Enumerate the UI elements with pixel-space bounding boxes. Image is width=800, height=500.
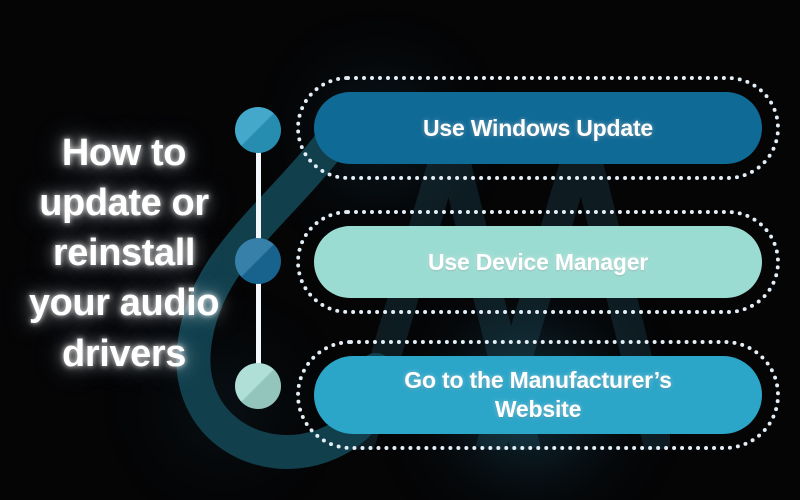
step-item-1[interactable]: Use Windows Update <box>296 76 780 180</box>
page-title: How to update or reinstall your audio dr… <box>8 128 240 379</box>
timeline-node-3 <box>235 363 281 409</box>
step-pill-1[interactable]: Use Windows Update <box>314 92 762 164</box>
timeline-node-2 <box>235 238 281 284</box>
infographic-canvas: How to update or reinstall your audio dr… <box>0 0 800 500</box>
step-pill-3[interactable]: Go to the Manufacturer’s Website <box>314 356 762 434</box>
step-item-2[interactable]: Use Device Manager <box>296 210 780 314</box>
timeline-node-1 <box>235 107 281 153</box>
step-label-2: Use Device Manager <box>428 248 648 277</box>
step-label-3: Go to the Manufacturer’s Website <box>404 366 671 424</box>
step-item-3[interactable]: Go to the Manufacturer’s Website <box>296 340 780 450</box>
step-pill-2[interactable]: Use Device Manager <box>314 226 762 298</box>
step-label-1: Use Windows Update <box>423 114 653 143</box>
